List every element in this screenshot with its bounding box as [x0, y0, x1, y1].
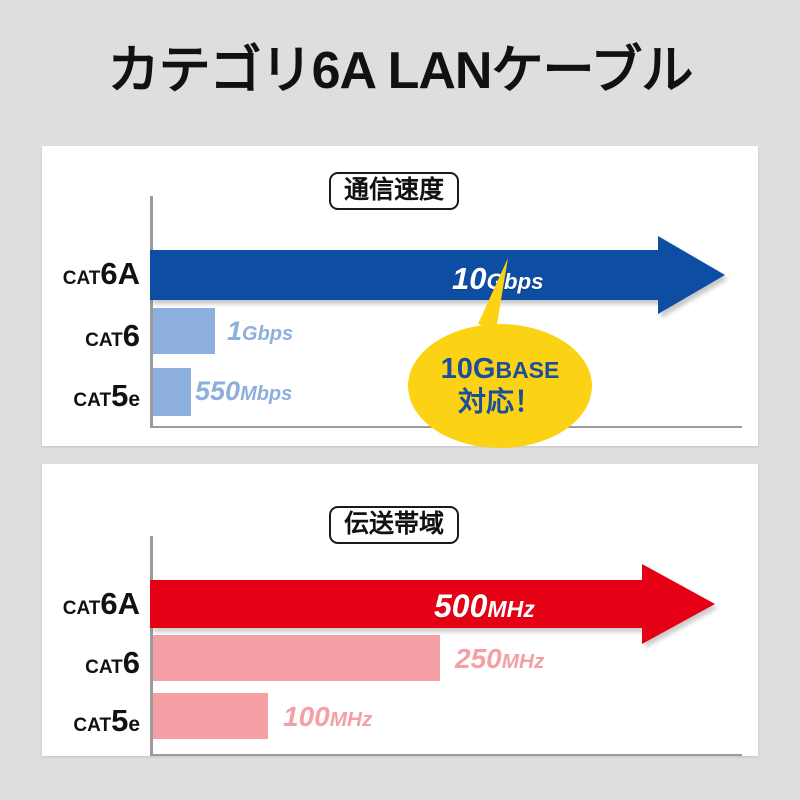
band-arrow-value-unit-0: MHz: [487, 596, 534, 622]
speed-callout-bubble: [400, 258, 600, 448]
band-cat-label-1: CAT6: [40, 647, 140, 678]
speed-cat-number-0: 6: [100, 256, 117, 291]
speed-cat-label-0: CAT6A: [40, 258, 140, 289]
panel-transmission-bandwidth: 伝送帯域 CAT6A 500MHz CAT6 250MHz CAT5e: [42, 464, 758, 756]
speed-section-chip: 通信速度: [329, 172, 459, 210]
band-value-label-1: 250MHz: [455, 645, 544, 673]
band-cat-number-1: 6: [123, 645, 140, 680]
speed-callout-line2: 対応！: [410, 387, 590, 417]
band-cat-label-0: CAT6A: [40, 588, 140, 619]
band-bar-1: [153, 635, 440, 681]
speed-cat-suffix-2: e: [128, 388, 140, 411]
speed-callout-text: 10GBASE 対応！: [410, 354, 590, 418]
page-root: カテゴリ6A LANケーブル 通信速度 CAT6A 10Gbps CAT6: [0, 0, 800, 800]
band-cat-number-0: 6: [100, 586, 117, 621]
band-cat-suffix-2: e: [128, 713, 140, 736]
band-bar-2: [153, 693, 268, 739]
band-value-num-2: 100: [283, 701, 330, 732]
speed-cat-prefix-2: CAT: [73, 390, 111, 411]
band-arrow-value-num-0: 500: [434, 588, 487, 624]
speed-value-num-1: 1: [227, 316, 242, 346]
band-cat-prefix-0: CAT: [63, 598, 101, 619]
band-value-unit-1: MHz: [502, 650, 545, 673]
band-axis-horizontal: [150, 754, 742, 756]
speed-cat-number-2: 5: [111, 378, 128, 413]
speed-cat-prefix-1: CAT: [85, 330, 123, 351]
band-arrow-value-0: 500MHz: [434, 590, 535, 622]
band-cat-number-2: 5: [111, 703, 128, 738]
band-arrow-bar-0: [150, 564, 715, 644]
speed-callout-line1-small: BASE: [495, 357, 559, 383]
speed-callout-line1: 10GBASE: [410, 354, 590, 385]
speed-value-unit-2: Mbps: [240, 383, 292, 405]
speed-bar-1: [153, 308, 215, 354]
speed-value-num-2: 550: [195, 376, 240, 406]
band-value-num-1: 250: [455, 643, 502, 674]
speed-bar-2: [153, 368, 191, 416]
speed-cat-label-1: CAT6: [40, 320, 140, 351]
band-cat-suffix-0: A: [118, 586, 140, 621]
band-cat-prefix-1: CAT: [85, 657, 123, 678]
speed-cat-prefix-0: CAT: [63, 268, 101, 289]
page-title: カテゴリ6A LANケーブル: [0, 42, 800, 100]
band-cat-prefix-2: CAT: [73, 715, 111, 736]
band-cat-label-2: CAT5e: [40, 705, 140, 736]
band-value-unit-2: MHz: [330, 708, 373, 731]
speed-cat-suffix-0: A: [118, 256, 140, 291]
speed-cat-number-1: 6: [123, 318, 140, 353]
speed-value-label-2: 550Mbps: [195, 378, 292, 405]
panel-communication-speed: 通信速度 CAT6A 10Gbps CAT6 1Gbps CAT5e: [42, 146, 758, 446]
speed-value-unit-1: Gbps: [242, 323, 293, 345]
speed-value-label-1: 1Gbps: [227, 318, 293, 345]
speed-callout-line1-main: 10G: [441, 353, 496, 385]
band-section-chip: 伝送帯域: [329, 506, 459, 544]
band-value-label-2: 100MHz: [283, 703, 372, 731]
speed-cat-label-2: CAT5e: [40, 380, 140, 411]
